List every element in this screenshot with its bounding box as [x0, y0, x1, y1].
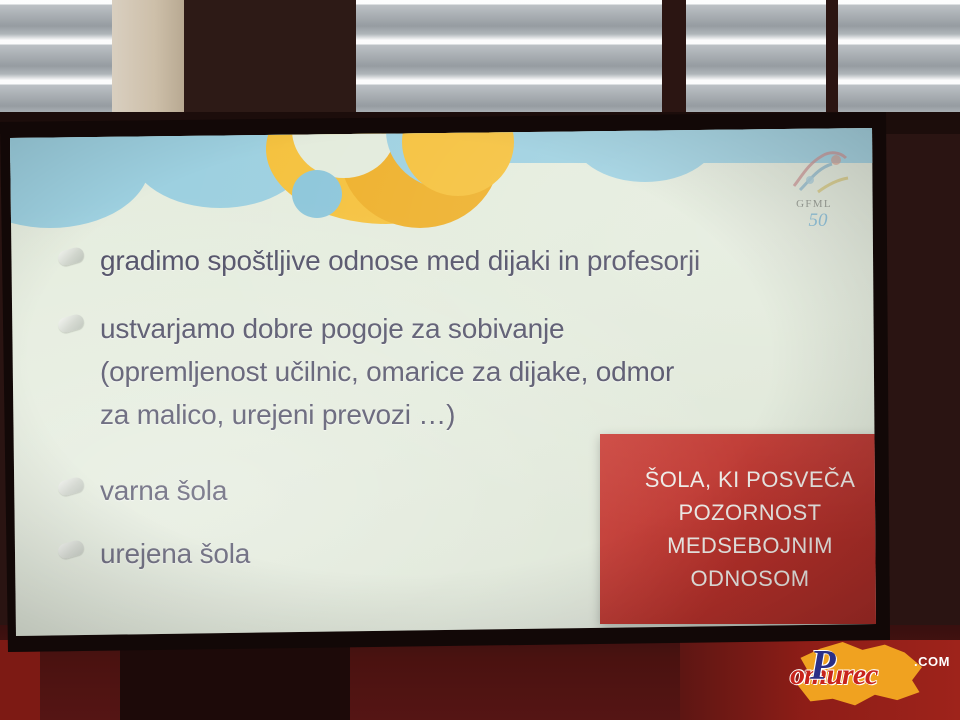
callout-line: ŠOLA, KI POSVEČA	[645, 467, 856, 492]
photo-scene: GFML 50 gradimo spoštljive odnose med di…	[0, 0, 960, 720]
callout-line: POZORNOST	[679, 500, 822, 525]
decor-circle-blue	[10, 128, 150, 228]
list-item: ustvarjamo dobre pogoje za sobivanje (op…	[58, 307, 876, 436]
watermark-brand-initial: P	[810, 642, 836, 690]
pill-bullet-icon	[56, 313, 85, 335]
decor-circle-blue	[570, 128, 720, 182]
logo-anniversary: 50	[786, 210, 850, 232]
blind-slats	[0, 0, 112, 128]
bullet-line: za malico, urejeni prevozi …)	[100, 393, 876, 436]
bullet-line: ustvarjamo dobre pogoje za sobivanje	[100, 307, 876, 350]
window-pane	[0, 0, 112, 128]
decor-dot-blue	[292, 170, 342, 218]
red-callout-box: ŠOLA, KI POSVEČA POZORNOST MEDSEBOJNIM O…	[600, 434, 876, 624]
bullet-line: (opremljenost učilnic, omarice za dijake…	[100, 350, 876, 393]
callout-line: MEDSEBOJNIM	[667, 533, 833, 558]
pill-bullet-icon	[56, 476, 85, 498]
logo-artwork-icon	[788, 146, 852, 198]
bullet-line: gradimo spoštljive odnose med dijaki in …	[100, 240, 876, 281]
window-pillar	[112, 0, 184, 128]
callout-text: ŠOLA, KI POSVEČA POZORNOST MEDSEBOJNIM O…	[637, 463, 864, 595]
pill-bullet-icon	[56, 246, 85, 268]
callout-line: ODNOSOM	[691, 566, 810, 591]
window-pane	[836, 0, 960, 128]
pomurec-watermark: omurec P .COM	[784, 634, 956, 718]
presentation-slide: GFML 50 gradimo spoštljive odnose med di…	[10, 128, 876, 636]
logo-name: GFML	[782, 198, 846, 210]
slide-header-decoration	[10, 128, 876, 258]
list-item: gradimo spoštljive odnose med dijaki in …	[58, 240, 876, 281]
watermark-suffix: .COM	[914, 654, 950, 669]
window-pane	[356, 0, 662, 128]
window-pillar-dark	[184, 0, 356, 128]
gfml-logo: GFML 50	[782, 146, 858, 232]
blind-slats	[836, 0, 960, 128]
lower-wall-shadow	[120, 640, 350, 720]
pill-bullet-icon	[56, 539, 85, 561]
window-mullion	[826, 0, 838, 128]
lower-wall-red-panel-left	[0, 640, 40, 720]
blind-slats	[356, 0, 662, 128]
window-blinds-band	[0, 0, 960, 128]
